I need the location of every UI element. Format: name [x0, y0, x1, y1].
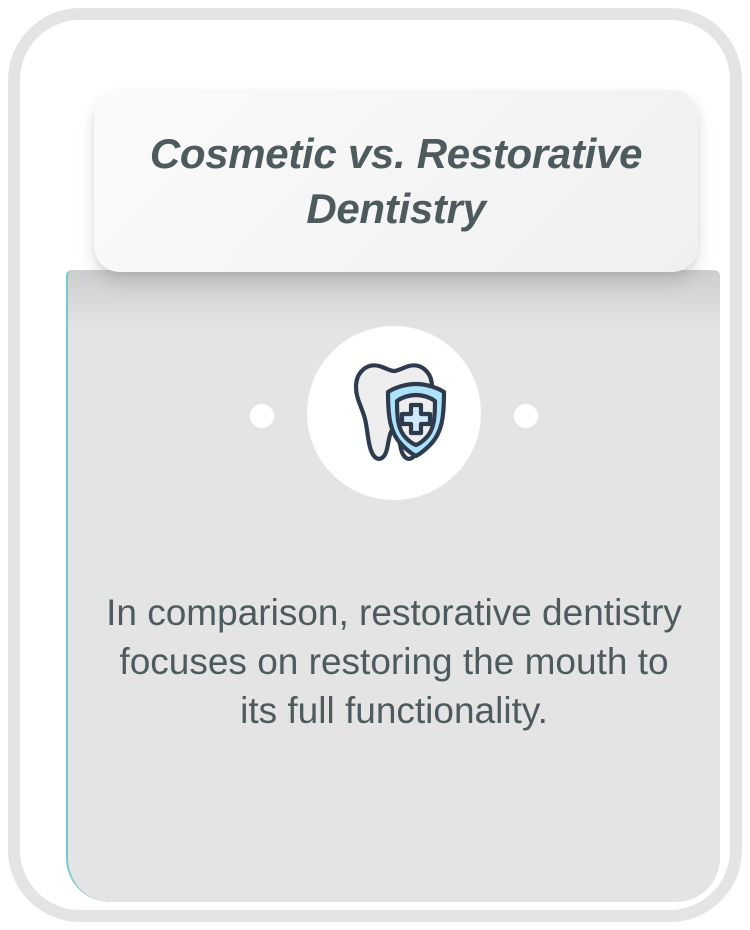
- content-card: In comparison, restorative dentistry foc…: [66, 270, 720, 902]
- tooth-with-shield-icon: [334, 357, 454, 469]
- left-dot-decoration: [250, 404, 274, 428]
- icon-circle-badge: [307, 326, 481, 500]
- header-card: Cosmetic vs. Restorative Dentistry: [94, 90, 698, 272]
- outer-frame: In comparison, restorative dentistry foc…: [8, 8, 742, 922]
- card-body-text: In comparison, restorative dentistry foc…: [104, 588, 684, 736]
- right-dot-decoration: [514, 404, 538, 428]
- icon-zone: [68, 318, 720, 508]
- page-title: Cosmetic vs. Restorative Dentistry: [120, 126, 672, 237]
